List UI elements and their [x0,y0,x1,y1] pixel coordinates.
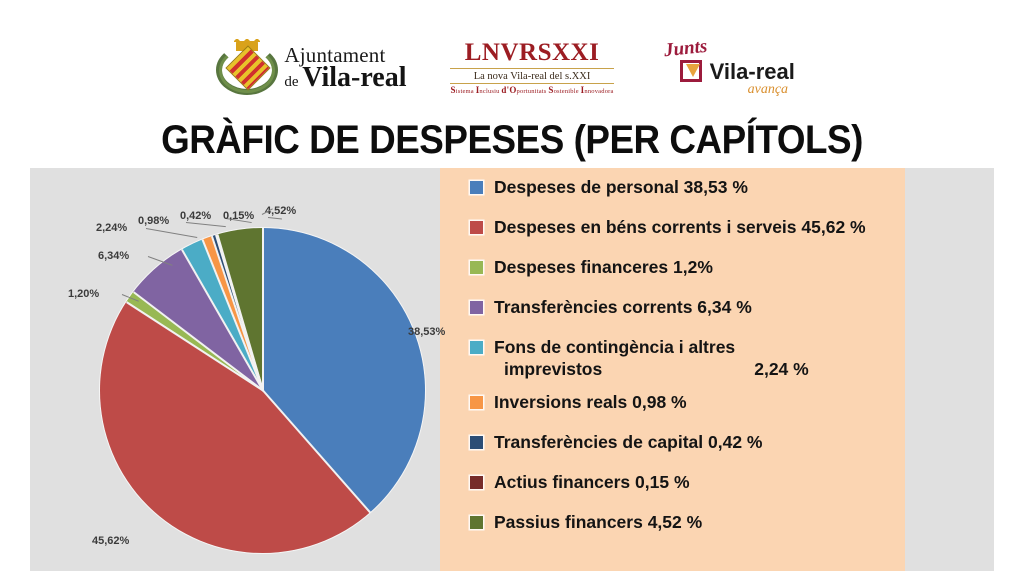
legend-item-label: Despeses de personal 38,53 % [494,176,748,198]
legend-item-label: Transferències corrents 6,34 % [494,296,752,318]
legend-swatch-icon [470,261,483,274]
ajuntament-line2: de Vila-real [284,64,406,92]
logo-ajuntament-vila-real: Ajuntament de Vila-real [216,39,406,97]
legend-item-percent: 2,24 % [754,358,808,380]
legend-item[interactable]: Inversions reals 0,98 % [470,391,891,421]
logo-lnvrsxxi: LNVRSXXI La nova Vila-real del s.XXI Sis… [450,40,613,95]
page-title: GRÀFIC DE DESPESES (PER CAPÍTOLS) [41,118,983,163]
lnvrsxxi-tagline: La nova Vila-real del s.XXI [450,71,613,82]
ajuntament-de: de [284,74,302,90]
pie-slice-label: 0,98% [138,215,169,227]
legend-item-label-line2-text: imprevistos [504,359,602,379]
legend-item-label: Transferències de capital 0,42 % [494,431,762,453]
pie-slice-label: 6,34% [98,250,129,262]
ajuntament-vilareal: Vila-real [302,62,406,93]
lnvrsxxi-acronym-part: Sostenible [548,88,580,95]
legend-item-label: Despeses en béns corrents i serveis 45,6… [494,216,866,238]
legend-item-label-line2: imprevistos2,24 % [494,358,809,380]
pie-slice-label: 1,20% [68,288,99,300]
legend-swatch-icon [470,221,483,234]
legend-swatch-icon [470,516,483,529]
legend-swatch-icon [470,341,483,354]
legend-item-label: Actius financers 0,15 % [494,471,690,493]
legend-item-label: Despeses financeres 1,2% [494,256,713,278]
junts-wordmark: Junts [663,36,708,62]
pie-slice-label: 38,53% [408,326,445,338]
legend-swatch-icon [470,476,483,489]
pie-chart-circle [100,228,425,553]
lnvrsxxi-rule-bottom [450,83,613,84]
legend-item-label: Fons de contingència i altresimprevistos… [494,336,809,381]
legend-item-label: Passius financers 4,52 % [494,511,702,533]
chart-plot-area: Despeses de personal 38,53 %Despeses en … [30,168,994,571]
lnvrsxxi-rule-top [450,68,613,69]
pie-slice-label: 4,52% [265,205,296,217]
pie-slice-divider [262,228,264,391]
lnvrsxxi-acronym-part: Inclusiu [476,88,502,95]
pie-slice-divider [216,234,263,391]
legend-swatch-icon [470,181,483,194]
legend-item[interactable]: Despeses de personal 38,53 % [470,176,891,206]
ajuntament-wordmark: Ajuntament de Vila-real [284,45,406,92]
pie-slice-label: 2,24% [96,222,127,234]
logo-junts-vila-real-avanca: Junts Vila-real avança [658,38,808,98]
pie-label-leader-line [146,228,197,238]
legend-swatch-icon [470,301,483,314]
legend-swatch-icon [470,396,483,409]
legend-item[interactable]: Transferències de capital 0,42 % [470,431,891,461]
pie-slice-label: 0,42% [180,210,211,222]
legend-item[interactable]: Despeses en béns corrents i serveis 45,6… [470,216,891,246]
legend-item[interactable]: Fons de contingència i altresimprevistos… [470,336,891,381]
legend-item[interactable]: Transferències corrents 6,34 % [470,296,891,326]
chart-legend-panel: Despeses de personal 38,53 %Despeses en … [440,168,905,571]
pie-label-leader-line [268,217,282,219]
lnvrsxxi-acronym-part: d'Oportunitats [501,88,548,95]
lnvrsxxi-acronym-part: Innovadora [581,88,614,95]
junts-square-icon [680,60,702,82]
pie-slice-divider [262,390,371,513]
lnvrsxxi-acronym-part: Sistema [450,88,475,95]
junts-avanca-wordmark: avança [748,82,788,98]
pie-slice-label: 45,62% [92,535,129,547]
lnvrsxxi-wordmark: LNVRSXXI [450,40,613,66]
legend-item[interactable]: Despeses financeres 1,2% [470,256,891,286]
legend-swatch-icon [470,436,483,449]
pie-chart: 38,53%45,62%1,20%6,34%2,24%0,98%0,42%0,1… [60,198,440,558]
legend-item[interactable]: Passius financers 4,52 % [470,511,891,541]
chart-legend-list: Despeses de personal 38,53 %Despeses en … [470,176,891,551]
legend-item[interactable]: Actius financers 0,15 % [470,471,891,501]
pie-slice-divider [126,301,263,391]
pie-label-leader-line [186,222,226,227]
logo-bar: Ajuntament de Vila-real LNVRSXXI La nova… [0,28,1024,108]
lnvrsxxi-acronym-expansion: Sistema Inclusiu d'Oportunitats Sostenib… [450,86,613,96]
vila-real-coat-of-arms-icon [216,39,278,97]
pie-slice-label: 0,15% [223,210,254,222]
legend-item-label: Inversions reals 0,98 % [494,391,687,413]
